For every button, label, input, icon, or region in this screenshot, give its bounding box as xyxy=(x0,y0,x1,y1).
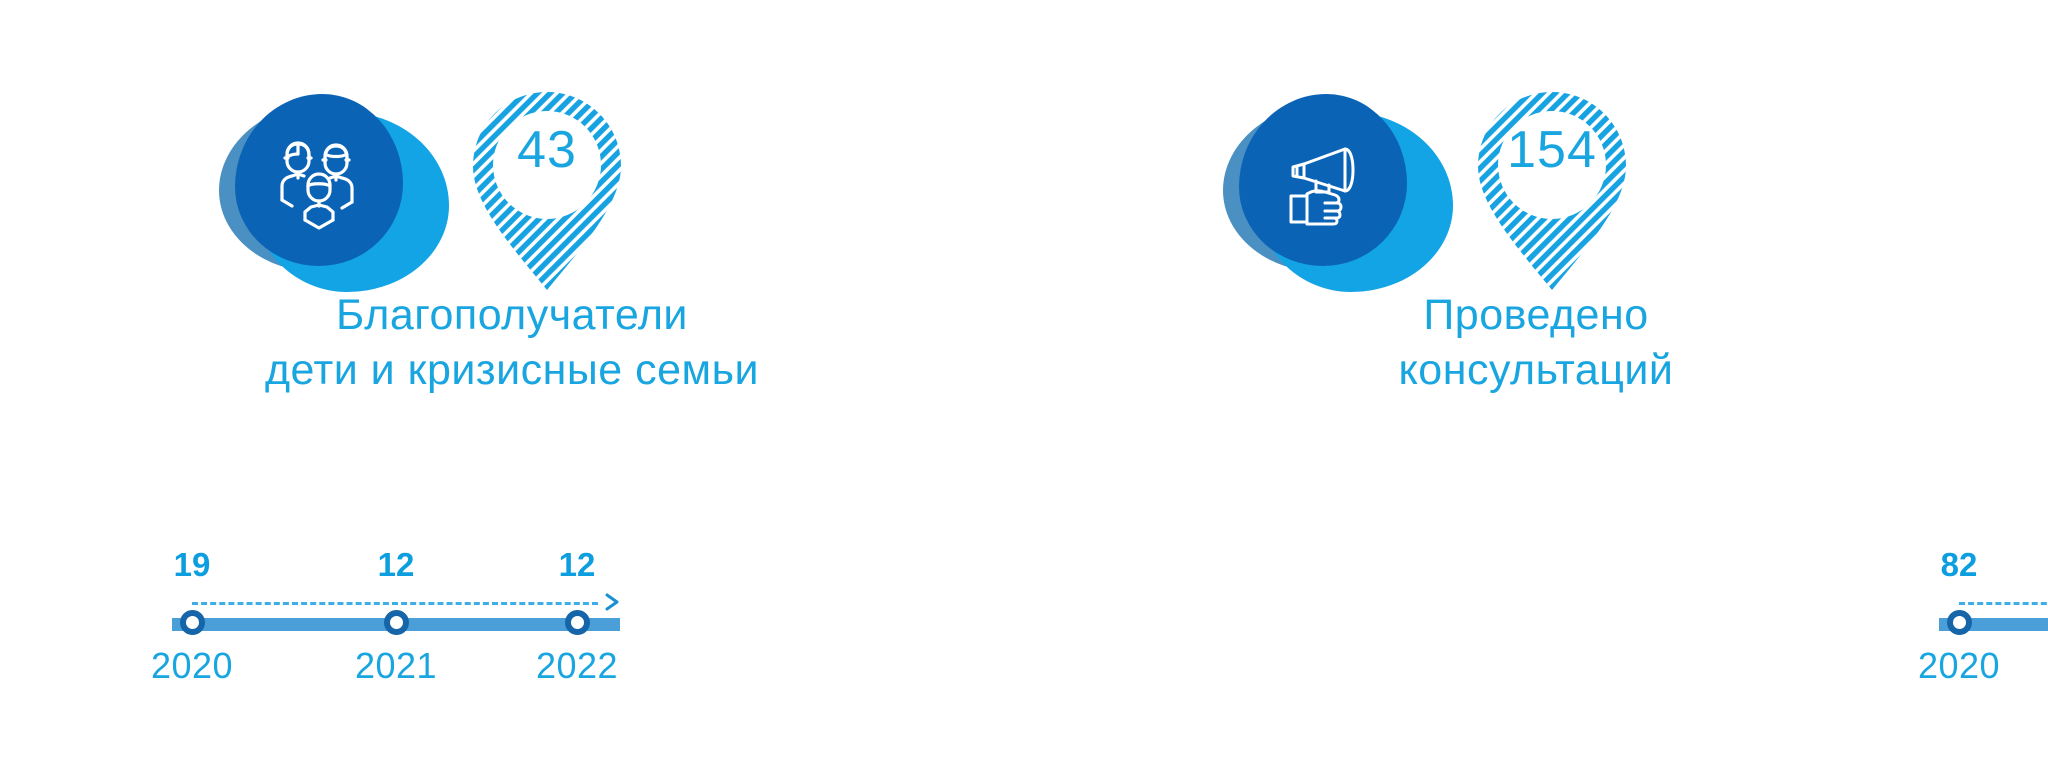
timeline-years: 2020 2021 2022 xyxy=(1939,646,2048,696)
timeline: 82 40 32 2020 2021 2022 xyxy=(1939,548,2048,708)
timeline-years: 2020 2021 2022 xyxy=(172,646,620,696)
timeline-dashed-line xyxy=(192,602,598,605)
timeline-values: 19 12 12 xyxy=(172,548,620,592)
icon-blob-group xyxy=(1209,88,1459,288)
map-pin-marker: 154 xyxy=(1452,78,1652,308)
infographic-canvas: 43 Благополучатели дети и кризисные семь… xyxy=(0,0,2048,772)
timeline-values: 82 40 32 xyxy=(1939,548,2048,592)
panel-title-line-2: консультаций xyxy=(1024,343,2048,398)
timeline-value-2021: 12 xyxy=(351,548,441,581)
panel-title-line-2: дети и кризисные семьи xyxy=(0,343,1024,398)
timeline-dot-2022[interactable] xyxy=(565,610,590,635)
panel-title: Проведено консультаций xyxy=(1024,288,2048,398)
timeline-year-2021: 2021 xyxy=(326,646,466,686)
panel-title-line-1: Проведено xyxy=(1024,288,2048,343)
family-icon xyxy=(235,94,403,266)
panel-consultations: 154 Проведено консультаций 82 40 32 xyxy=(1024,0,2048,772)
timeline-year-2020: 2020 xyxy=(122,646,262,686)
icon-blob-group xyxy=(205,88,455,288)
timeline-value-2020: 19 xyxy=(147,548,237,581)
timeline-year-2020: 2020 xyxy=(1889,646,2029,686)
megaphone-hand-icon xyxy=(1239,94,1407,266)
timeline-dashed-line xyxy=(1959,602,2048,605)
pin-value: 43 xyxy=(447,124,647,176)
map-pin-marker: 43 xyxy=(447,78,647,308)
timeline-dot-2020[interactable] xyxy=(1947,610,1972,635)
timeline-dot-2021[interactable] xyxy=(384,610,409,635)
timeline: 19 12 12 2020 2021 2022 xyxy=(172,548,620,708)
pin-value: 154 xyxy=(1452,124,1652,176)
panel-beneficiaries: 43 Благополучатели дети и кризисные семь… xyxy=(0,0,1024,772)
panel-graphic: 154 xyxy=(1024,78,2048,308)
panel-title: Благополучатели дети и кризисные семьи xyxy=(0,288,1024,398)
panel-graphic: 43 xyxy=(0,78,1024,308)
timeline-dot-2020[interactable] xyxy=(180,610,205,635)
timeline-value-2022: 12 xyxy=(532,548,622,581)
timeline-value-2020: 82 xyxy=(1914,548,2004,581)
panel-title-line-1: Благополучатели xyxy=(0,288,1024,343)
arrow-right-icon xyxy=(602,591,624,613)
timeline-year-2022: 2022 xyxy=(507,646,647,686)
